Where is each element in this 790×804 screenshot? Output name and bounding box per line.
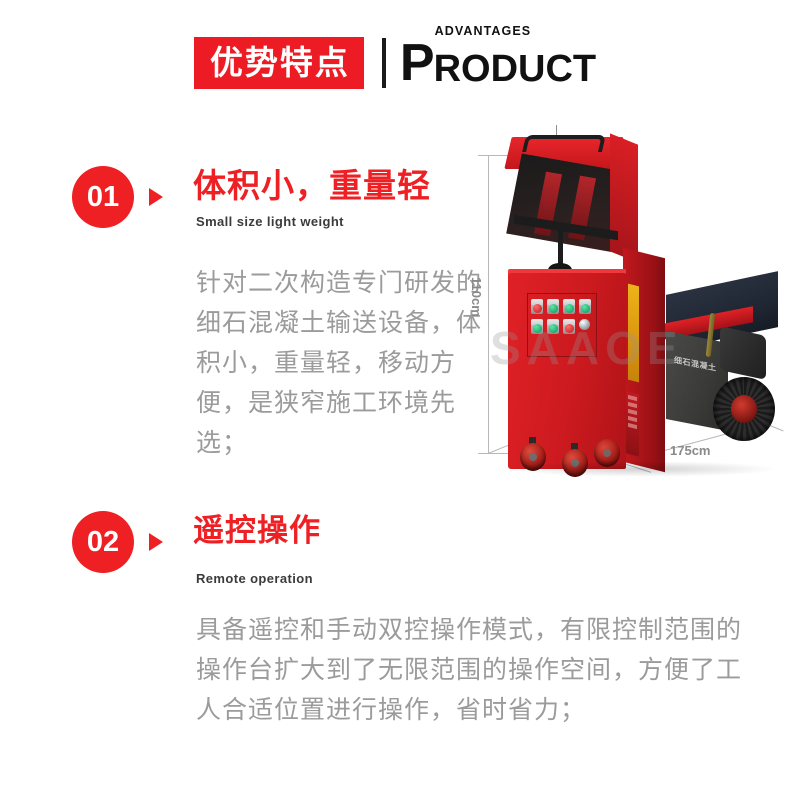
header-inner: 优势特点 P ADVANTAGES RODUCT [194,30,596,96]
logo-rest-wrap: ADVANTAGES RODUCT [434,48,597,89]
machine-rear-label: 细石混凝土 [674,355,717,374]
logo-superscript-text: ADVANTAGES [435,24,532,38]
control-button-emergency-icon[interactable] [563,319,575,334]
control-button-start-4-icon[interactable] [531,319,543,334]
machine-warning-sticker-red [626,391,639,456]
product-photo: 110cm 60cm 175cm 细石混凝土 [470,125,790,485]
page-header: 优势特点 P ADVANTAGES RODUCT [0,30,790,96]
feature-02-number-badge: 02 [72,511,134,573]
control-button-start-5-icon[interactable] [547,319,559,334]
header-english-logo: P ADVANTAGES RODUCT [400,37,596,89]
feature-02-title: 遥控操作 [193,511,321,551]
machine-lid-handle [522,135,606,152]
logo-main-text: RODUCT [434,48,597,89]
feature-section-01: 01 体积小，重量轻 Small size light weight 针对二次构… [0,160,500,228]
control-button-start-2-icon[interactable] [563,299,575,314]
control-panel-row-2 [531,319,590,334]
header-chinese-badge: 优势特点 [194,37,364,89]
feature-01-body-text: 针对二次构造专门研发的细石混凝土输送设备，体积小，重量轻，移动方便，是狭窄施工环… [196,263,496,463]
control-button-start-3-icon[interactable] [579,299,591,314]
feature-01-subtitle: Small size light weight [196,214,344,229]
feature-02-subtitle: Remote operation [196,571,313,586]
play-triangle-icon [149,533,163,551]
feature-01-header: 01 体积小，重量轻 Small size light weight [0,160,500,228]
machine-lid-side-panel [610,133,638,262]
feature-01-number-badge: 01 [72,166,134,228]
feature-02-body-text: 具备遥控和手动双控操作模式，有限控制范围的操作台扩大到了无限范围的操作空间，方便… [196,610,756,730]
feature-section-02: 02 遥控操作 Remote operation 具备遥控和手动双控操作模式，有… [0,505,760,573]
product-advantages-page: 优势特点 P ADVANTAGES RODUCT 01 体积小，重量轻 Smal… [0,0,790,804]
machine-illustration: 细石混凝土 [470,125,790,485]
logo-initial-letter: P [400,37,434,89]
control-button-start-1-icon[interactable] [547,299,559,314]
machine-rear-tire [713,377,775,441]
control-panel-row-1 [531,299,591,314]
control-indicator-lamp-icon [579,319,590,330]
machine-ground-shadow [506,461,778,477]
feature-02-header: 02 遥控操作 Remote operation [0,505,760,573]
machine-warning-sticker-yellow [628,284,639,383]
play-triangle-icon [149,188,163,206]
vertical-bar-icon [382,38,386,88]
feature-01-title: 体积小，重量轻 [193,166,431,206]
control-button-stop-icon[interactable] [531,299,543,314]
